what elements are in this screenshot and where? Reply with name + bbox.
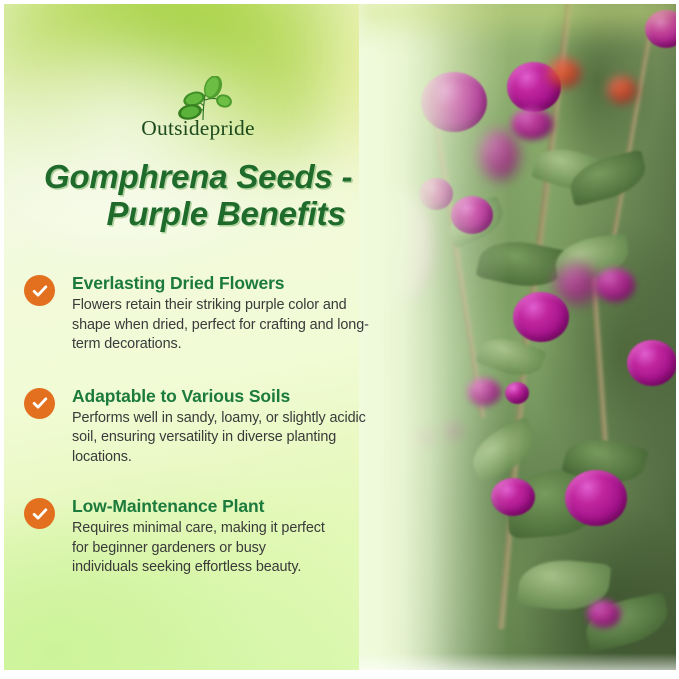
frame-edge-bottom: [0, 670, 679, 679]
benefit-description-line: term decorations.: [72, 335, 436, 355]
benefit-description: Flowers retain their striking purple col…: [72, 296, 436, 355]
benefit-description: Performs well in sandy, loamy, or slight…: [72, 409, 436, 468]
check-circle-icon: [24, 275, 55, 306]
benefit-description-line: individuals seeking effortless beauty.: [72, 558, 436, 578]
benefit-description: Requires minimal care, making it perfect…: [72, 519, 436, 578]
benefit-description-line: Requires minimal care, making it perfect: [72, 519, 436, 539]
leaf-sprig-icon: [170, 76, 236, 120]
benefit-description-line: shape when dried, perfect for crafting a…: [72, 316, 436, 336]
benefit-description-line: for beginner gardeners or busy: [72, 539, 436, 559]
brand-name: Outsidepride: [128, 116, 268, 141]
page-title-line-1: Gomphrena Seeds -: [44, 158, 434, 195]
frame-edge-top: [0, 0, 679, 4]
benefit-item: Everlasting Dried Flowers Flowers retain…: [24, 272, 436, 355]
benefit-item: Adaptable to Various Soils Performs well…: [24, 385, 436, 468]
benefit-heading: Adaptable to Various Soils: [72, 385, 436, 407]
benefit-heading: Everlasting Dried Flowers: [72, 272, 436, 294]
infographic-poster: Outsidepride Gomphrena Seeds - Purple Be…: [0, 0, 679, 679]
benefit-description-line: Flowers retain their striking purple col…: [72, 296, 436, 316]
page-title-line-2: Purple Benefits: [44, 195, 434, 232]
frame-edge-left: [0, 0, 4, 679]
benefit-description-line: Performs well in sandy, loamy, or slight…: [72, 409, 436, 429]
check-circle-icon: [24, 388, 55, 419]
benefit-description-line: soil, ensuring versatility in diverse pl…: [72, 428, 436, 448]
benefit-heading: Low-Maintenance Plant: [72, 495, 436, 517]
benefit-description-line: locations.: [72, 448, 436, 468]
brand-logo: Outsidepride: [128, 76, 268, 142]
benefit-item: Low-Maintenance Plant Requires minimal c…: [24, 495, 436, 578]
page-title: Gomphrena Seeds - Purple Benefits: [44, 158, 434, 232]
benefits-list: Everlasting Dried Flowers Flowers retain…: [24, 272, 436, 600]
content-layer: Outsidepride Gomphrena Seeds - Purple Be…: [0, 0, 679, 679]
check-circle-icon: [24, 498, 55, 529]
